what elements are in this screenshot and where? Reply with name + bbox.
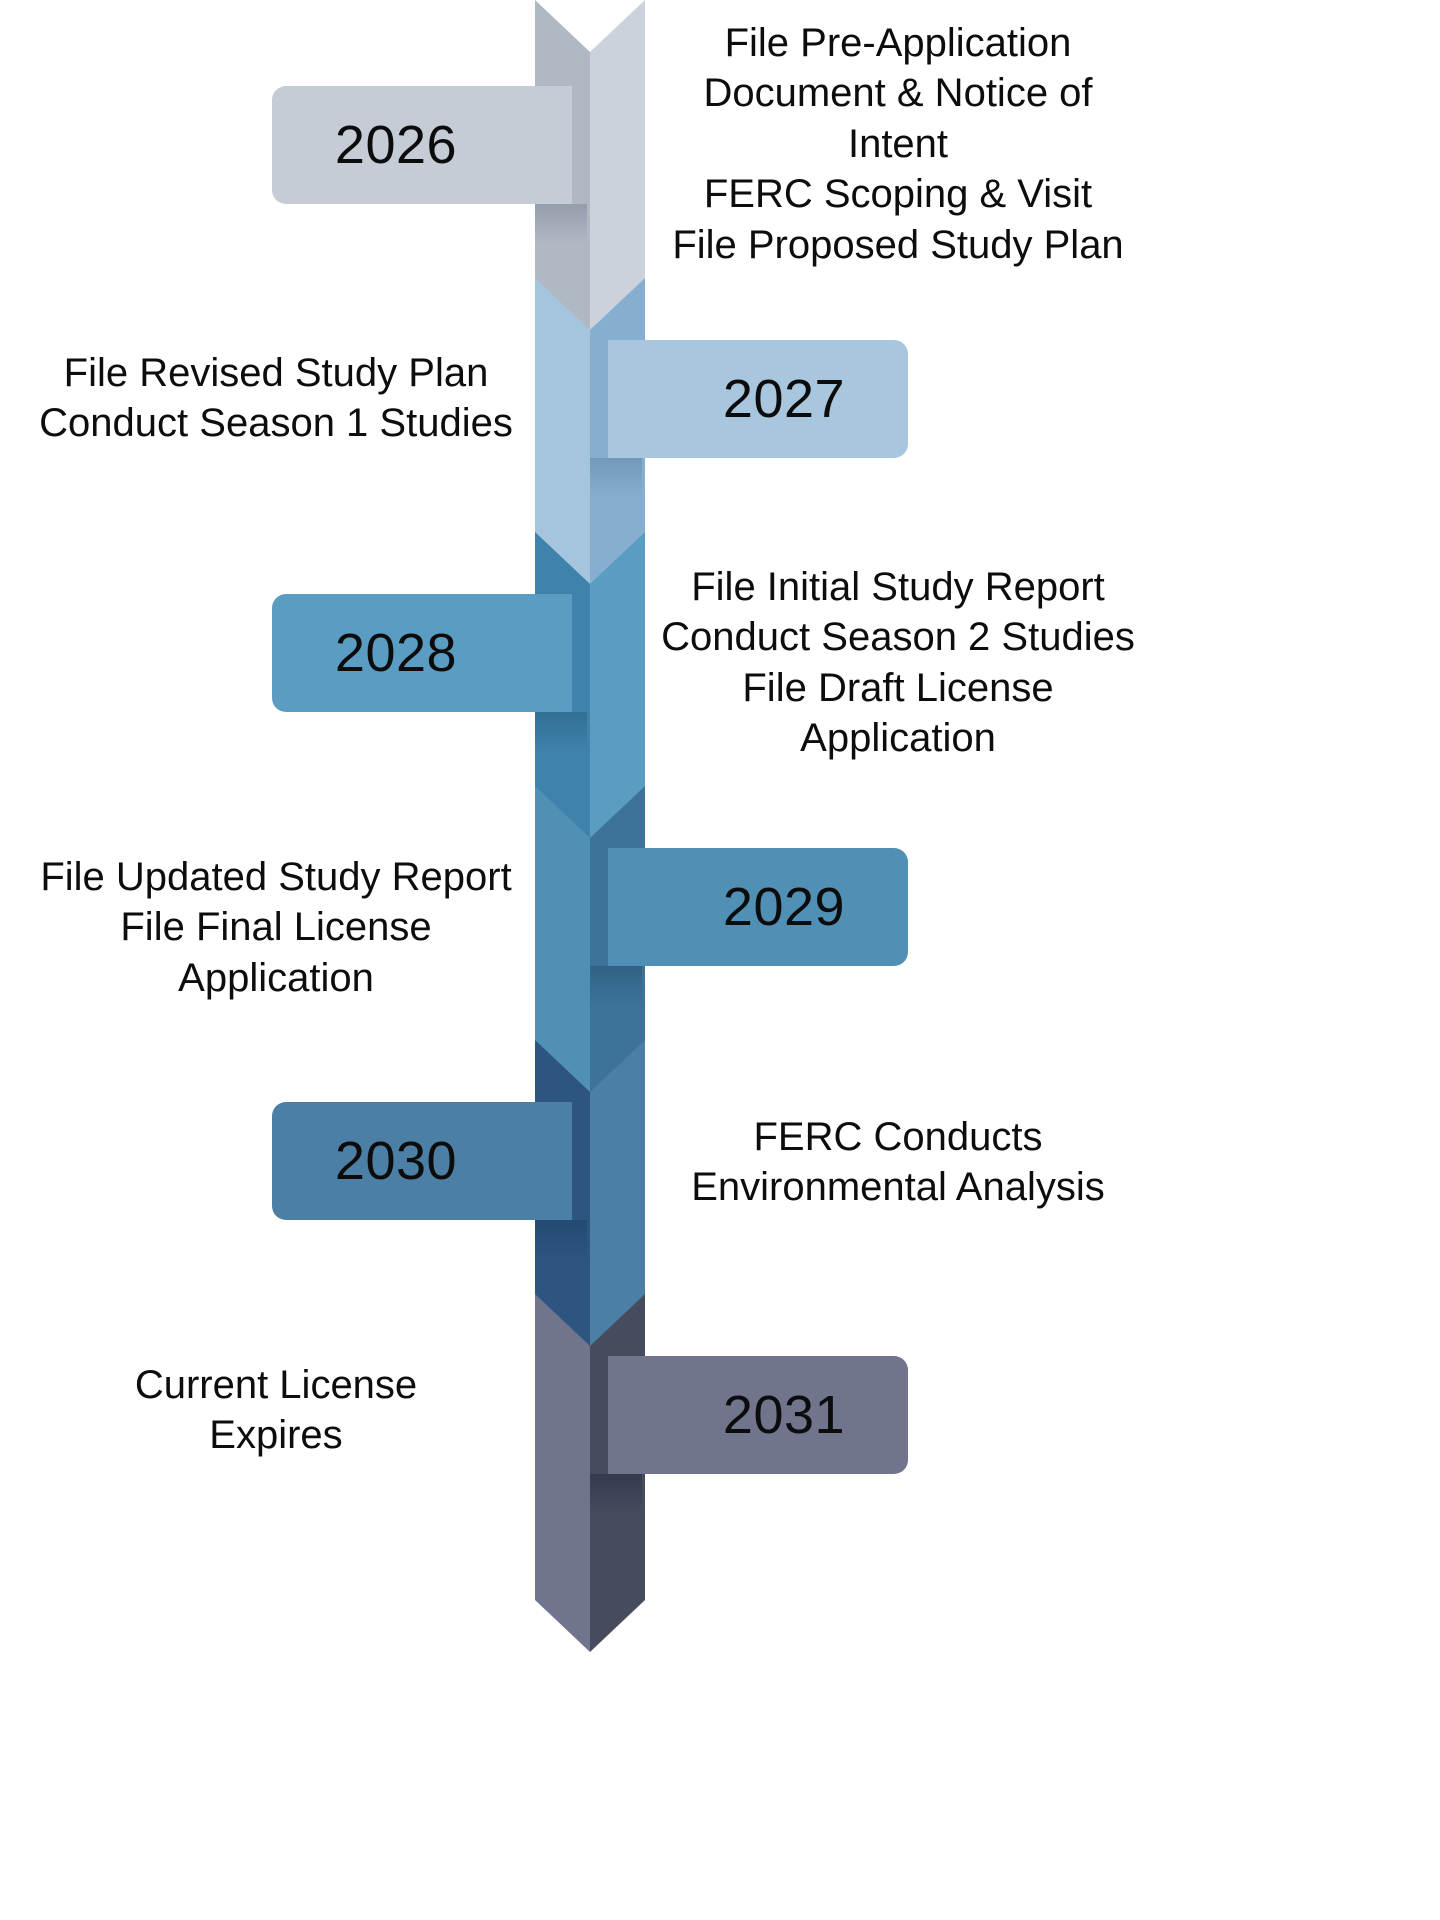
year-pill-2026[interactable]: 2026 bbox=[272, 86, 572, 204]
year-pill-2029[interactable]: 2029 bbox=[608, 848, 908, 966]
milestone-text-2027: File Revised Study Plan Conduct Season 1… bbox=[20, 348, 532, 449]
milestone-text-2030: FERC Conducts Environmental Analysis bbox=[648, 1112, 1148, 1213]
year-pill-2031[interactable]: 2031 bbox=[608, 1356, 908, 1474]
chevron-left-face bbox=[535, 1294, 590, 1652]
year-label: 2030 bbox=[335, 1134, 457, 1188]
year-label: 2027 bbox=[723, 372, 845, 426]
year-label: 2031 bbox=[723, 1388, 845, 1442]
milestone-text-2028: File Initial Study Report Conduct Season… bbox=[648, 562, 1148, 764]
year-label: 2028 bbox=[335, 626, 457, 680]
year-pill-2028[interactable]: 2028 bbox=[272, 594, 572, 712]
milestone-text-2029: File Updated Study Report File Final Lic… bbox=[20, 852, 532, 1003]
year-label: 2029 bbox=[723, 880, 845, 934]
year-label: 2026 bbox=[335, 118, 457, 172]
timeline-diagram: 2026File Pre-Application Document & Noti… bbox=[0, 0, 1440, 1920]
milestone-text-2026: File Pre-Application Document & Notice o… bbox=[648, 18, 1148, 270]
milestone-text-2031: Current License Expires bbox=[20, 1360, 532, 1461]
year-pill-2027[interactable]: 2027 bbox=[608, 340, 908, 458]
year-pill-2030[interactable]: 2030 bbox=[272, 1102, 572, 1220]
